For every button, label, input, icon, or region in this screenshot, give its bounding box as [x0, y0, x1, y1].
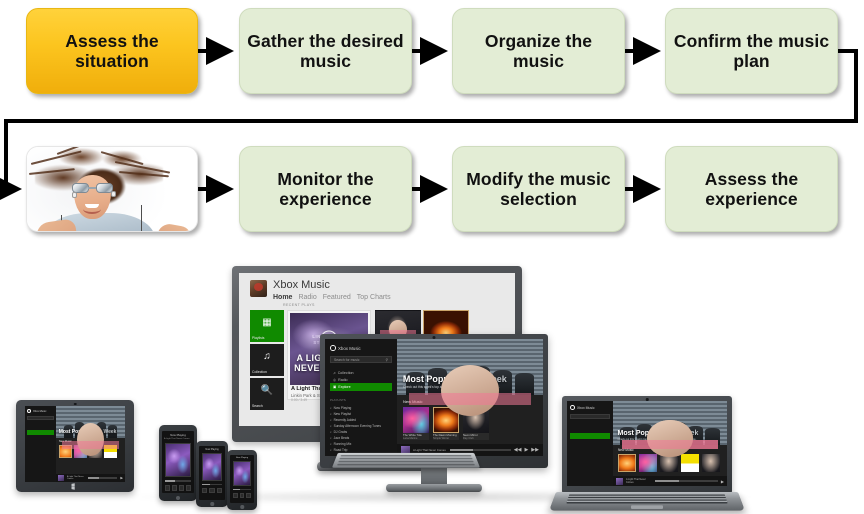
next-icon[interactable]	[217, 488, 222, 493]
next-icon[interactable]	[246, 493, 251, 498]
app-main: Most Popular This Week Check out this we…	[613, 401, 727, 486]
player-track: A Light That Never Comes	[626, 478, 652, 484]
now-playing-title: Now Playing	[162, 431, 194, 438]
app-main: Most Popular This Week Check out this we…	[397, 339, 543, 456]
nav-item-home[interactable]: Home	[273, 294, 292, 301]
flow-node-label: Monitor the experience	[240, 169, 411, 210]
earbud-icon	[72, 192, 77, 198]
search-input[interactable]: Search for music ⚲	[330, 356, 392, 363]
note-icon: ♪	[330, 424, 332, 428]
section-label: PLAYLISTS	[330, 398, 392, 402]
device-keyboard[interactable]	[332, 453, 480, 468]
listening-photo-image	[27, 147, 197, 231]
flow-node-organize-the-music[interactable]: Organize the music	[452, 8, 625, 94]
app-logo: Xbox Music	[27, 409, 54, 413]
xbox-logo-icon	[27, 409, 31, 413]
album-art	[202, 453, 222, 481]
album-card[interactable]	[681, 454, 699, 472]
card-artist: Simple Winter	[433, 437, 459, 440]
shuffle-icon[interactable]	[186, 485, 191, 491]
note-icon: ♪	[330, 406, 332, 410]
phone-screen: Now Playing	[199, 446, 225, 500]
progress-bar[interactable]	[88, 477, 117, 478]
album-card[interactable]	[89, 445, 102, 458]
nav-item-featured[interactable]: Featured	[323, 294, 351, 301]
album-art	[233, 461, 251, 486]
search-input[interactable]	[27, 416, 54, 420]
screenshot-root: Assess the situation Gather the desired …	[0, 0, 864, 504]
new-music-row: New Music	[56, 438, 125, 458]
progress-bar[interactable]	[450, 449, 511, 451]
tablet-body: Xbox Music	[16, 400, 134, 492]
flow-node-assess-the-experience[interactable]: Assess the experience	[665, 146, 838, 232]
app-logo: Xbox Music	[570, 405, 610, 410]
album-card[interactable]	[618, 454, 636, 472]
tablet-screen: Xbox Music	[25, 406, 125, 482]
search-icon: 🔍	[261, 386, 273, 396]
nav-item-collection[interactable]: ♫ Collection	[330, 369, 392, 376]
card-list: The White Tide Lana Marine The Dawn Morn…	[403, 407, 537, 440]
note-icon: ♪	[330, 418, 332, 422]
note-icon: ♪	[330, 436, 332, 440]
flow-node-label: Gather the desired music	[240, 31, 411, 72]
app-header: Xbox Music Home Radio Featured Top Chart…	[250, 280, 391, 301]
album-art	[89, 445, 102, 458]
flow-node-confirm-the-music-plan[interactable]: Confirm the music plan	[665, 8, 838, 94]
nav-item-explore[interactable]	[570, 433, 610, 439]
earbud-icon	[111, 191, 116, 197]
monitor-stand-base	[386, 484, 482, 492]
device-tablet[interactable]: Xbox Music	[16, 400, 134, 492]
next-icon[interactable]	[179, 485, 184, 491]
nav-label: Collection	[338, 371, 354, 375]
card-artist: Lana Marine	[403, 437, 429, 440]
album-art	[639, 454, 657, 472]
grid-icon: ▦	[262, 318, 271, 328]
app-title: Xbox Music	[33, 410, 46, 413]
app-nav: Home Radio Featured Top Charts	[273, 294, 391, 301]
flow-node-label: Modify the music selection	[453, 169, 624, 210]
now-playing-title: Now Playing	[230, 455, 254, 460]
progress-bar[interactable]	[655, 480, 718, 481]
player-bar[interactable]: A Light That Never Comes ▶	[56, 474, 125, 482]
progress-bar[interactable]	[165, 480, 191, 482]
laptop-lid: Xbox Music	[562, 396, 732, 494]
flow-node-label: Confirm the music plan	[666, 31, 837, 72]
note-icon: ♪	[330, 412, 332, 416]
player-thumbnail	[616, 478, 623, 485]
new-music-row: New Music The White Tide Lana Marine	[397, 395, 543, 448]
laptop-screen: Xbox Music	[567, 401, 727, 486]
section-label: RECENT PLAYS	[283, 303, 315, 307]
windows-logo-icon[interactable]	[72, 483, 79, 490]
album-card[interactable]: The White Tide Lana Marine	[403, 407, 429, 440]
search-placeholder: Search for music	[334, 358, 359, 362]
tile-label: Search	[252, 404, 282, 408]
xbox-logo-icon	[330, 345, 336, 351]
playlist-item[interactable]	[27, 451, 54, 454]
search-input[interactable]	[570, 414, 610, 419]
album-art	[165, 443, 191, 477]
monitor-bezel: DELL Xbox Music Search for music ⚲	[320, 334, 548, 468]
laptop-trackpad[interactable]	[631, 505, 663, 509]
play-icon[interactable]	[209, 488, 214, 493]
flow-node-label: Organize the music	[453, 31, 624, 72]
webcam-icon	[74, 403, 77, 406]
player-track: A Light That Never Comes	[413, 448, 447, 452]
tile-playlists[interactable]: ▦ Playlists	[250, 310, 284, 342]
note-icon: ♪	[330, 448, 332, 452]
flow-node-modify-the-music-selection[interactable]: Modify the music selection	[452, 146, 625, 232]
nav-item-radio[interactable]: Radio	[298, 294, 316, 301]
prev-icon[interactable]	[165, 485, 170, 491]
play-icon[interactable]: ▶	[721, 479, 724, 484]
flow-node-assess-the-situation[interactable]: Assess the situation	[26, 8, 198, 94]
prev-icon[interactable]: ◀◀	[514, 447, 522, 453]
flow-node-monitor-the-experience[interactable]: Monitor the experience	[239, 146, 412, 232]
collection-icon: ♫	[333, 371, 336, 375]
tile-collection[interactable]: ♫ Collection	[250, 344, 284, 376]
player-bar[interactable]: A Light That Never Comes ▶	[613, 476, 727, 486]
phone-screen: Now Playing	[230, 455, 254, 503]
progress-bar[interactable]	[233, 489, 251, 490]
laptop-keyboard[interactable]	[566, 494, 727, 503]
xbox-logo-icon	[570, 405, 575, 410]
playlist-item[interactable]	[570, 464, 610, 468]
earphone-cord	[99, 205, 142, 231]
now-playing-title: Now Playing	[199, 446, 225, 452]
album-card[interactable]	[702, 454, 720, 472]
app-title: Xbox Music	[273, 280, 391, 292]
card-list	[618, 454, 722, 472]
xbox-music-app-laptop: Xbox Music	[567, 401, 727, 486]
album-art	[681, 454, 699, 472]
app-title: Xbox Music	[338, 346, 361, 351]
playlist-list: ♪Now Playing ♪New Playlist ♪Recently Add…	[330, 405, 392, 453]
card-list	[59, 445, 122, 458]
explore-icon: ▣	[333, 385, 336, 389]
app-main: Most Popular This Week New Music	[56, 406, 125, 482]
play-icon[interactable]	[240, 493, 245, 498]
album-card[interactable]	[639, 454, 657, 472]
tile-column: ▦ Playlists ♫ Collection 🔍 Search	[250, 310, 284, 412]
sunglasses-icon	[72, 183, 113, 193]
tile-search[interactable]: 🔍 Search	[250, 378, 284, 410]
player-thumbnail	[58, 475, 64, 481]
play-icon[interactable]: ▶	[120, 476, 123, 480]
tile-label: Collection	[252, 370, 282, 374]
device-phone[interactable]: Now Playing	[227, 450, 257, 510]
music-note-icon: ♫	[263, 352, 271, 362]
transport-controls	[202, 488, 222, 493]
album-art	[403, 407, 429, 433]
phone-screen: Now Playing A Light That Never Comes	[162, 431, 194, 493]
tile-label: Playlists	[252, 336, 282, 340]
home-button[interactable]	[176, 496, 180, 500]
search-icon: ⚲	[386, 358, 388, 362]
album-card[interactable]: Neon Mirror Day Club	[463, 407, 489, 440]
app-sidebar: Xbox Music Search for music ⚲ ♫ Collecti…	[325, 339, 397, 456]
app-sidebar: Xbox Music	[25, 406, 56, 482]
prev-icon[interactable]	[233, 493, 238, 498]
nav-label: Radio	[338, 378, 347, 382]
laptop-base	[549, 492, 745, 511]
now-playing-track: A Light That Never Comes	[162, 438, 194, 442]
album-art	[702, 454, 720, 472]
nav-item-explore[interactable]: ▣ Explore	[330, 383, 392, 391]
nav-label: Explore	[338, 385, 350, 389]
device-phone[interactable]: Now Playing	[196, 441, 228, 507]
play-icon[interactable]	[172, 485, 177, 491]
next-icon[interactable]: ▶▶	[531, 447, 539, 453]
xbox-music-app-monitor: Xbox Music Search for music ⚲ ♫ Collecti…	[325, 339, 543, 456]
device-phone[interactable]: Now Playing A Light That Never Comes	[159, 425, 197, 501]
note-icon: ♪	[330, 442, 332, 446]
flow-node-gather-the-desired-music[interactable]: Gather the desired music	[239, 8, 412, 94]
play-icon[interactable]: ▶	[524, 447, 528, 453]
device-desktop-monitor[interactable]: DELL Xbox Music Search for music ⚲	[320, 334, 548, 468]
flow-node-label: Assess the situation	[27, 31, 197, 72]
monitor-screen: Xbox Music Search for music ⚲ ♫ Collecti…	[325, 339, 543, 456]
prev-icon[interactable]	[202, 488, 207, 493]
transport-controls	[233, 493, 251, 498]
player-track: A Light That Never Comes	[67, 476, 85, 480]
app-logo: Xbox Music	[330, 345, 392, 351]
app-sidebar: Xbox Music	[567, 401, 613, 486]
flow-node-listening-photo[interactable]	[26, 146, 198, 232]
device-lineup-image: Xbox Music Home Radio Featured Top Chart…	[0, 258, 864, 504]
flow-node-label: Assess the experience	[666, 169, 837, 210]
card-artist: Day Club	[463, 437, 489, 440]
avatar[interactable]	[250, 280, 267, 297]
transport-controls	[165, 485, 191, 491]
album-art	[618, 454, 636, 472]
nav-item-top-charts[interactable]: Top Charts	[357, 294, 391, 301]
process-flow-diagram: Assess the situation Gather the desired …	[0, 0, 864, 260]
radio-icon: ◎	[333, 378, 336, 382]
app-title: Xbox Music	[577, 406, 595, 410]
note-icon: ♪	[330, 430, 332, 434]
device-laptop[interactable]: Xbox Music	[556, 396, 738, 514]
album-art	[463, 407, 489, 433]
progress-bar[interactable]	[202, 484, 222, 485]
xbox-music-app-tablet: Xbox Music	[25, 406, 125, 482]
new-music-row: New Music	[613, 445, 727, 472]
home-button[interactable]	[240, 505, 244, 509]
nav-item-radio[interactable]: ◎ Radio	[330, 376, 392, 383]
nav-item-explore[interactable]	[27, 430, 54, 435]
